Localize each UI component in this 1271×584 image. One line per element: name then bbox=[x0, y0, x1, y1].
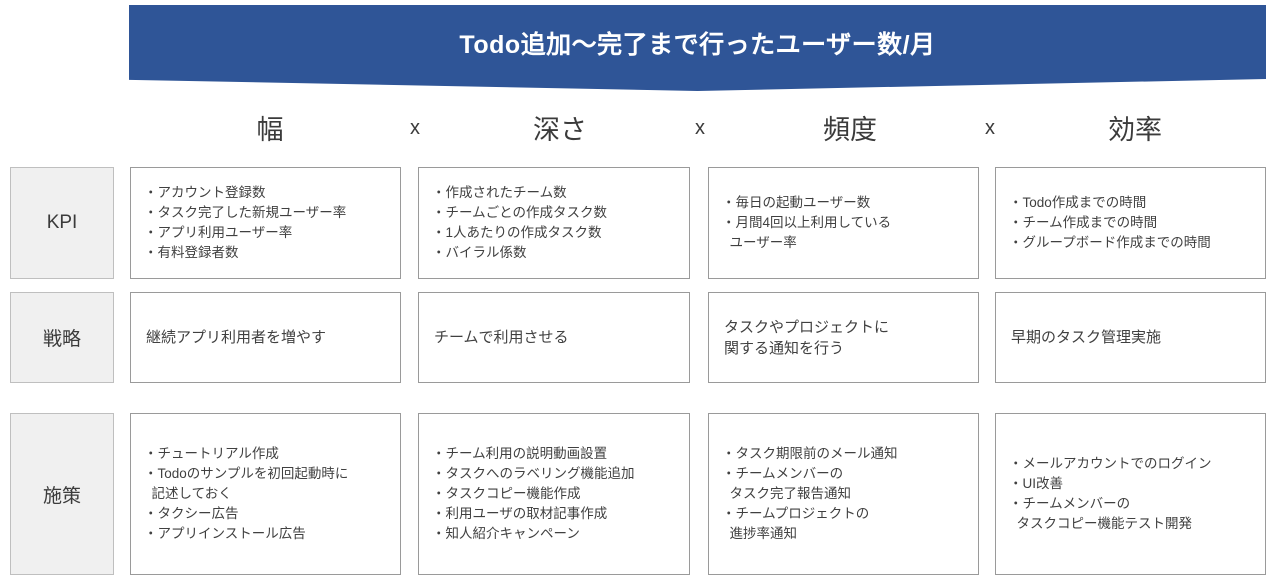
dimension-label-depth: 深さ bbox=[485, 103, 635, 151]
list-item: ・チームメンバーの bbox=[1009, 494, 1256, 514]
table-row-measures: 施策 ・チュートリアル作成 ・Todoのサンプルを初回起動時に 記述しておく ・… bbox=[0, 413, 1271, 575]
dimension-header-row: 幅 x 深さ x 頻度 x 効率 bbox=[0, 103, 1271, 151]
page-title: Todo追加～完了まで行ったユーザー数/月 bbox=[129, 5, 1266, 81]
list-item: ・作成されたチーム数 bbox=[432, 183, 680, 203]
cell-kpi-depth[interactable]: ・作成されたチーム数 ・チームごとの作成タスク数 ・1人あたりの作成タスク数 ・… bbox=[418, 167, 690, 279]
cell-strategy-width[interactable]: 継続アプリ利用者を増やす bbox=[130, 292, 401, 383]
list-item: ・知人紹介キャンペーン bbox=[432, 524, 680, 544]
list-item: タスクコピー機能テスト開発 bbox=[1009, 514, 1256, 534]
multiply-operator-1: x bbox=[375, 106, 455, 150]
list-item: ・バイラル係数 bbox=[432, 243, 680, 263]
row-label-strategy: 戦略 bbox=[10, 292, 114, 383]
list-item: ・タスク期限前のメール通知 bbox=[722, 444, 969, 464]
dimension-label-width: 幅 bbox=[195, 103, 345, 151]
list-item: 記述しておく bbox=[144, 484, 391, 504]
cell-strategy-frequency[interactable]: タスクやプロジェクトに 関する通知を行う bbox=[708, 292, 979, 383]
list-item: ・チュートリアル作成 bbox=[144, 444, 391, 464]
list-item: ・1人あたりの作成タスク数 bbox=[432, 223, 680, 243]
cell-text: 継続アプリ利用者を増やす bbox=[144, 327, 391, 348]
table-row-strategy: 戦略 継続アプリ利用者を増やす チームで利用させる タスクやプロジェクトに 関す… bbox=[0, 292, 1271, 383]
multiply-operator-2: x bbox=[660, 106, 740, 150]
list-item: ・タクシー広告 bbox=[144, 504, 391, 524]
row-label-kpi: KPI bbox=[10, 167, 114, 279]
list-item: ・チームプロジェクトの bbox=[722, 504, 969, 524]
bullet-list: ・Todo作成までの時間 ・チーム作成までの時間 ・グループボード作成までの時間 bbox=[1009, 193, 1256, 253]
bullet-list: ・チーム利用の説明動画設置 ・タスクへのラベリング機能追加 ・タスクコピー機能作… bbox=[432, 444, 680, 544]
bullet-list: ・アカウント登録数 ・タスク完了した新規ユーザー率 ・アプリ利用ユーザー率 ・有… bbox=[144, 183, 391, 263]
cell-measures-efficiency[interactable]: ・メールアカウントでのログイン ・UI改善 ・チームメンバーの タスクコピー機能… bbox=[995, 413, 1266, 575]
title-banner: Todo追加～完了まで行ったユーザー数/月 bbox=[129, 5, 1266, 91]
list-item: ・有料登録者数 bbox=[144, 243, 391, 263]
list-item: ・メールアカウントでのログイン bbox=[1009, 454, 1256, 474]
cell-strategy-efficiency[interactable]: 早期のタスク管理実施 bbox=[995, 292, 1266, 383]
list-item: ・チームごとの作成タスク数 bbox=[432, 203, 680, 223]
table-row-kpi: KPI ・アカウント登録数 ・タスク完了した新規ユーザー率 ・アプリ利用ユーザー… bbox=[0, 167, 1271, 279]
cell-measures-depth[interactable]: ・チーム利用の説明動画設置 ・タスクへのラベリング機能追加 ・タスクコピー機能作… bbox=[418, 413, 690, 575]
list-item: ・タスクへのラベリング機能追加 bbox=[432, 464, 680, 484]
bullet-list: ・チュートリアル作成 ・Todoのサンプルを初回起動時に 記述しておく ・タクシ… bbox=[144, 444, 391, 544]
list-item: ・Todoのサンプルを初回起動時に bbox=[144, 464, 391, 484]
multiply-operator-3: x bbox=[950, 106, 1030, 150]
list-item: ・チーム利用の説明動画設置 bbox=[432, 444, 680, 464]
list-item: ・タスクコピー機能作成 bbox=[432, 484, 680, 504]
list-item: ・チーム作成までの時間 bbox=[1009, 213, 1256, 233]
list-item: ・チームメンバーの bbox=[722, 464, 969, 484]
cell-measures-width[interactable]: ・チュートリアル作成 ・Todoのサンプルを初回起動時に 記述しておく ・タクシ… bbox=[130, 413, 401, 575]
cell-text: チームで利用させる bbox=[432, 327, 680, 348]
slide-canvas: { "header": { "title": "Todo追加～完了まで行ったユー… bbox=[0, 0, 1271, 584]
bullet-list: ・作成されたチーム数 ・チームごとの作成タスク数 ・1人あたりの作成タスク数 ・… bbox=[432, 183, 680, 263]
list-item: ・タスク完了した新規ユーザー率 bbox=[144, 203, 391, 223]
row-label-measures: 施策 bbox=[10, 413, 114, 575]
list-item: ・アカウント登録数 bbox=[144, 183, 391, 203]
bullet-list: ・毎日の起動ユーザー数 ・月間4回以上利用している ユーザー率 bbox=[722, 193, 969, 253]
dimension-label-efficiency: 効率 bbox=[1060, 103, 1210, 151]
list-item: 進捗率通知 bbox=[722, 524, 969, 544]
cell-strategy-depth[interactable]: チームで利用させる bbox=[418, 292, 690, 383]
list-item: ・月間4回以上利用している bbox=[722, 213, 969, 233]
list-item: ・毎日の起動ユーザー数 bbox=[722, 193, 969, 213]
cell-text: 早期のタスク管理実施 bbox=[1009, 327, 1256, 348]
list-item: ユーザー率 bbox=[722, 233, 969, 253]
cell-kpi-efficiency[interactable]: ・Todo作成までの時間 ・チーム作成までの時間 ・グループボード作成までの時間 bbox=[995, 167, 1266, 279]
cell-kpi-frequency[interactable]: ・毎日の起動ユーザー数 ・月間4回以上利用している ユーザー率 bbox=[708, 167, 979, 279]
bullet-list: ・タスク期限前のメール通知 ・チームメンバーの タスク完了報告通知 ・チームプロ… bbox=[722, 444, 969, 544]
list-item: ・アプリインストール広告 bbox=[144, 524, 391, 544]
list-item: ・Todo作成までの時間 bbox=[1009, 193, 1256, 213]
dimension-label-frequency: 頻度 bbox=[775, 103, 925, 151]
list-item: タスク完了報告通知 bbox=[722, 484, 969, 504]
list-item: ・利用ユーザの取材記事作成 bbox=[432, 504, 680, 524]
cell-text: タスクやプロジェクトに 関する通知を行う bbox=[722, 317, 969, 359]
bullet-list: ・メールアカウントでのログイン ・UI改善 ・チームメンバーの タスクコピー機能… bbox=[1009, 454, 1256, 534]
list-item: ・グループボード作成までの時間 bbox=[1009, 233, 1256, 253]
cell-measures-frequency[interactable]: ・タスク期限前のメール通知 ・チームメンバーの タスク完了報告通知 ・チームプロ… bbox=[708, 413, 979, 575]
cell-kpi-width[interactable]: ・アカウント登録数 ・タスク完了した新規ユーザー率 ・アプリ利用ユーザー率 ・有… bbox=[130, 167, 401, 279]
list-item: ・アプリ利用ユーザー率 bbox=[144, 223, 391, 243]
list-item: ・UI改善 bbox=[1009, 474, 1256, 494]
